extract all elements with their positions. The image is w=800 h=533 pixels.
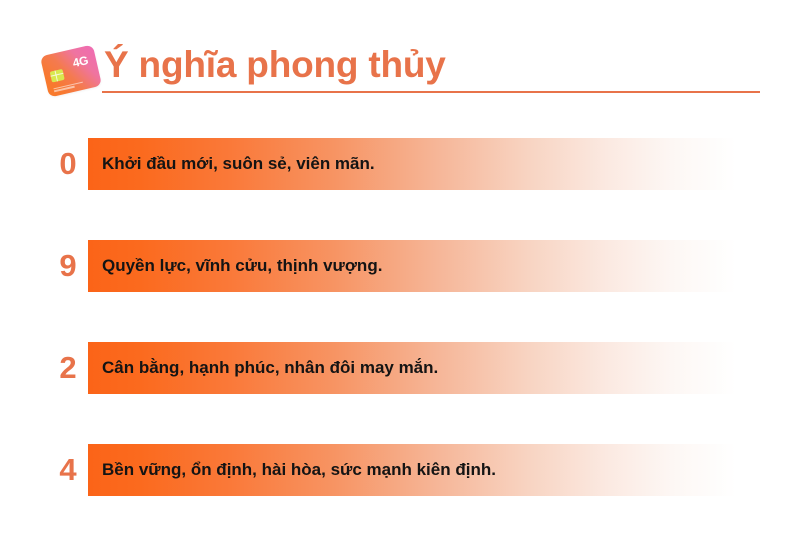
sim-card-4g-icon: 4G xyxy=(40,44,102,97)
logo: 4G xyxy=(42,43,102,101)
meaning-text: Quyền lực, vĩnh cửu, thịnh vượng. xyxy=(102,256,382,276)
list-item: 0 Khởi đầu mới, suôn sẻ, viên mãn. xyxy=(0,115,800,217)
sim-decorative-lines xyxy=(53,82,83,93)
digit-label: 9 xyxy=(52,240,84,292)
title-underline xyxy=(102,91,760,93)
digit-label: 2 xyxy=(52,342,84,394)
list-item: 4 Bền vững, ổn định, hài hòa, sức mạnh k… xyxy=(0,421,800,523)
sim-4g-label: 4G xyxy=(71,53,89,70)
list-item: 9 Quyền lực, vĩnh cửu, thịnh vượng. xyxy=(0,217,800,319)
gradient-bar: Quyền lực, vĩnh cửu, thịnh vượng. xyxy=(88,240,736,292)
gradient-bar: Bền vững, ổn định, hài hòa, sức mạnh kiê… xyxy=(88,444,736,496)
meaning-text: Bền vững, ổn định, hài hòa, sức mạnh kiê… xyxy=(102,460,496,480)
meaning-list: 0 Khởi đầu mới, suôn sẻ, viên mãn. 9 Quy… xyxy=(0,115,800,523)
meaning-text: Cân bằng, hạnh phúc, nhân đôi may mắn. xyxy=(102,358,438,378)
meaning-text: Khởi đầu mới, suôn sẻ, viên mãn. xyxy=(102,154,375,174)
gradient-bar: Cân bằng, hạnh phúc, nhân đôi may mắn. xyxy=(88,342,736,394)
sim-chip-icon xyxy=(50,69,65,83)
digit-label: 4 xyxy=(52,444,84,496)
page-header: 4G Ý nghĩa phong thủy xyxy=(0,0,800,115)
digit-label: 0 xyxy=(52,138,84,190)
page-title: Ý nghĩa phong thủy xyxy=(104,44,446,86)
gradient-bar: Khởi đầu mới, suôn sẻ, viên mãn. xyxy=(88,138,736,190)
list-item: 2 Cân bằng, hạnh phúc, nhân đôi may mắn. xyxy=(0,319,800,421)
